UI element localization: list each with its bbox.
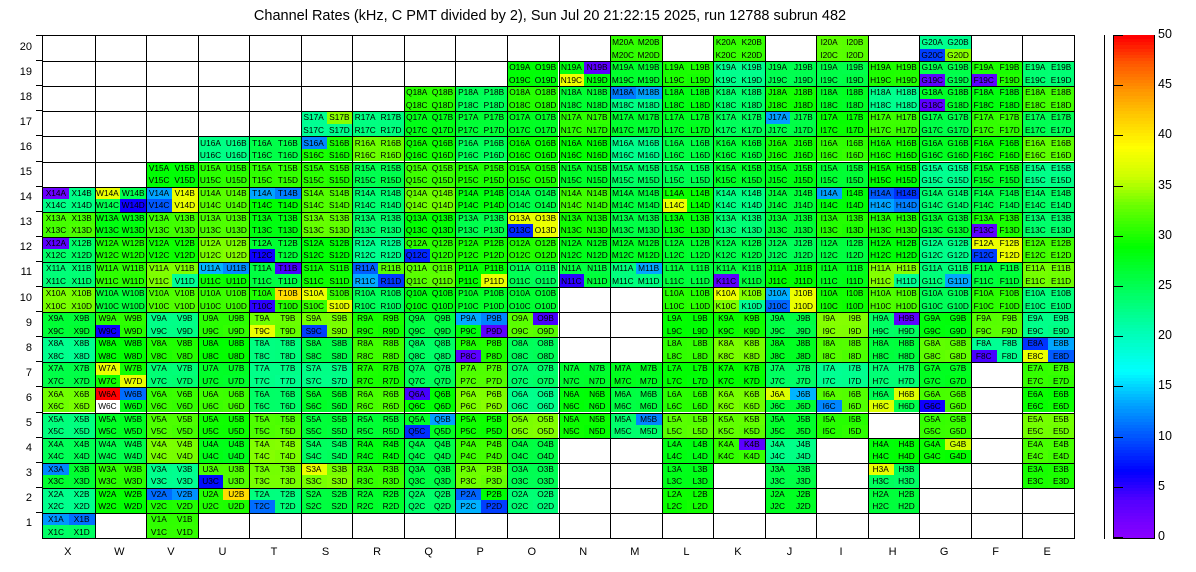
heatmap-cell[interactable]: W5B xyxy=(120,413,146,426)
heatmap-cell[interactable]: T12D xyxy=(275,249,301,262)
heatmap-cell[interactable]: F10A xyxy=(971,287,997,300)
heatmap-cell[interactable]: R3D xyxy=(378,475,404,488)
heatmap-cell[interactable]: P18B xyxy=(481,86,507,99)
heatmap-cell[interactable]: V12D xyxy=(172,249,198,262)
heatmap-cell[interactable]: X3D xyxy=(69,475,95,488)
heatmap-cell[interactable]: V6C xyxy=(146,400,172,413)
heatmap-cell[interactable]: S13B xyxy=(327,212,353,225)
heatmap-cell[interactable]: L12A xyxy=(662,237,688,250)
heatmap-cell[interactable]: E13C xyxy=(1022,224,1048,237)
heatmap-cell[interactable]: G9A xyxy=(919,312,945,325)
heatmap-cell[interactable]: L2D xyxy=(687,500,713,513)
heatmap-cell[interactable]: U7D xyxy=(223,375,249,388)
heatmap-cell[interactable]: S4D xyxy=(327,450,353,463)
heatmap-cell[interactable]: G9C xyxy=(919,325,945,338)
heatmap-cell[interactable]: U3C xyxy=(198,475,224,488)
heatmap-cell[interactable]: W8A xyxy=(95,337,121,350)
heatmap-cell[interactable]: T15A xyxy=(249,162,275,175)
heatmap-cell[interactable]: X4A xyxy=(43,438,69,451)
heatmap-cell[interactable]: L12C xyxy=(662,249,688,262)
heatmap-cell[interactable]: O15C xyxy=(507,174,533,187)
heatmap-cell[interactable]: L4A xyxy=(662,438,688,451)
heatmap-cell[interactable]: S14D xyxy=(327,199,353,212)
heatmap-cell[interactable]: Q18C xyxy=(404,99,430,112)
heatmap-cell[interactable]: R3B xyxy=(378,463,404,476)
heatmap-cell[interactable]: V14C xyxy=(146,199,172,212)
heatmap-cell[interactable]: M20C xyxy=(610,49,636,62)
heatmap-cell[interactable]: S3B xyxy=(327,463,353,476)
heatmap-cell[interactable]: J3D xyxy=(790,475,816,488)
heatmap-cell[interactable]: O17A xyxy=(507,111,533,124)
heatmap-cell[interactable]: V9B xyxy=(172,312,198,325)
heatmap-cell[interactable]: Q12D xyxy=(430,249,456,262)
heatmap-cell[interactable]: H13A xyxy=(868,212,894,225)
heatmap-cell[interactable]: O5B xyxy=(533,413,559,426)
heatmap-cell[interactable]: L16C xyxy=(662,149,688,162)
heatmap-cell[interactable]: U12D xyxy=(223,249,249,262)
heatmap-cell[interactable]: P18A xyxy=(455,86,481,99)
heatmap-cell[interactable]: R15D xyxy=(378,174,404,187)
heatmap-cell[interactable]: G6D xyxy=(945,400,971,413)
heatmap-cell[interactable]: H16B xyxy=(894,136,920,149)
heatmap-cell[interactable]: R15B xyxy=(378,162,404,175)
heatmap-cell[interactable]: F19D xyxy=(997,74,1023,87)
heatmap-cell[interactable]: I15D xyxy=(842,174,868,187)
heatmap-cell[interactable]: V12B xyxy=(172,237,198,250)
heatmap-cell[interactable]: P11A xyxy=(455,262,481,275)
heatmap-cell[interactable]: O12B xyxy=(533,237,559,250)
heatmap-cell[interactable]: F16D xyxy=(997,149,1023,162)
heatmap-cell[interactable]: T13D xyxy=(275,224,301,237)
heatmap-cell[interactable]: I11A xyxy=(816,262,842,275)
heatmap-cell[interactable]: N16B xyxy=(584,136,610,149)
heatmap-cell[interactable]: S16D xyxy=(327,149,353,162)
heatmap-cell[interactable]: I14C xyxy=(816,199,842,212)
heatmap-cell[interactable]: N11B xyxy=(584,262,610,275)
heatmap-cell[interactable]: J12B xyxy=(790,237,816,250)
heatmap-cell[interactable]: G8B xyxy=(945,337,971,350)
heatmap-cell[interactable]: Q11A xyxy=(404,262,430,275)
heatmap-cell[interactable]: H3A xyxy=(868,463,894,476)
heatmap-cell[interactable]: O3D xyxy=(533,475,559,488)
heatmap-cell[interactable]: X1B xyxy=(69,513,95,526)
heatmap-cell[interactable]: G12C xyxy=(919,249,945,262)
heatmap-cell[interactable]: L15D xyxy=(687,174,713,187)
heatmap-cell[interactable]: E12C xyxy=(1022,249,1048,262)
heatmap-cell[interactable]: X8B xyxy=(69,337,95,350)
heatmap-cell[interactable]: H12C xyxy=(868,249,894,262)
heatmap-cell[interactable]: P8A xyxy=(455,337,481,350)
heatmap-cell[interactable]: L16A xyxy=(662,136,688,149)
heatmap-cell[interactable]: E9C xyxy=(1022,325,1048,338)
heatmap-cell[interactable]: G15B xyxy=(945,162,971,175)
heatmap-cell[interactable]: F18C xyxy=(971,99,997,112)
heatmap-cell[interactable]: E15B xyxy=(1048,162,1074,175)
heatmap-cell[interactable]: T4A xyxy=(249,438,275,451)
heatmap-cell[interactable]: R13A xyxy=(352,212,378,225)
heatmap-cell[interactable]: T2A xyxy=(249,488,275,501)
heatmap-cell[interactable]: Q14C xyxy=(404,199,430,212)
heatmap-cell[interactable]: T6C xyxy=(249,400,275,413)
heatmap-cell[interactable]: M6C xyxy=(610,400,636,413)
heatmap-cell[interactable]: M14B xyxy=(636,187,662,200)
heatmap-cell[interactable]: N5B xyxy=(584,413,610,426)
heatmap-cell[interactable]: Q8B xyxy=(430,337,456,350)
heatmap-cell[interactable]: E14B xyxy=(1048,187,1074,200)
heatmap-cell[interactable]: I11C xyxy=(816,274,842,287)
heatmap-cell[interactable]: M20A xyxy=(610,36,636,49)
heatmap-cell[interactable]: O3A xyxy=(507,463,533,476)
heatmap-cell[interactable]: H12B xyxy=(894,237,920,250)
heatmap-cell[interactable]: X1D xyxy=(69,525,95,538)
heatmap-cell[interactable]: F8B xyxy=(997,337,1023,350)
heatmap-cell[interactable]: X12D xyxy=(69,249,95,262)
heatmap-cell[interactable]: E7D xyxy=(1048,375,1074,388)
heatmap-cell[interactable]: F9B xyxy=(997,312,1023,325)
heatmap-cell[interactable]: T16C xyxy=(249,149,275,162)
heatmap-cell[interactable]: V14B xyxy=(172,187,198,200)
heatmap-cell[interactable]: N14D xyxy=(584,199,610,212)
heatmap-cell[interactable]: S4B xyxy=(327,438,353,451)
heatmap-cell[interactable]: L6D xyxy=(687,400,713,413)
heatmap-cell[interactable]: X12A xyxy=(43,237,69,250)
heatmap-cell[interactable]: H15B xyxy=(894,162,920,175)
heatmap-cell[interactable]: P9B xyxy=(481,312,507,325)
heatmap-cell[interactable]: O10B xyxy=(533,287,559,300)
heatmap-cell[interactable]: L9D xyxy=(687,325,713,338)
heatmap-cell[interactable]: H9A xyxy=(868,312,894,325)
heatmap-cell[interactable]: M17D xyxy=(636,124,662,137)
heatmap-cell[interactable]: I14B xyxy=(842,187,868,200)
heatmap-cell[interactable]: V9D xyxy=(172,325,198,338)
heatmap-cell[interactable]: E3A xyxy=(1022,463,1048,476)
heatmap-cell[interactable]: M12A xyxy=(610,237,636,250)
heatmap-cell[interactable]: W7C xyxy=(95,375,121,388)
heatmap-cell[interactable]: P10C xyxy=(455,300,481,313)
heatmap-cell[interactable]: V10B xyxy=(172,287,198,300)
heatmap-cell[interactable]: U10A xyxy=(198,287,224,300)
heatmap-cell[interactable]: H14A xyxy=(868,187,894,200)
heatmap-cell[interactable]: S8A xyxy=(301,337,327,350)
heatmap-cell[interactable]: S8B xyxy=(327,337,353,350)
heatmap-cell[interactable]: W14D xyxy=(120,199,146,212)
heatmap-cell[interactable]: P18C xyxy=(455,99,481,112)
heatmap-cell[interactable]: F19B xyxy=(997,61,1023,74)
heatmap-cell[interactable]: L13C xyxy=(662,224,688,237)
heatmap-cell[interactable]: U8C xyxy=(198,350,224,363)
heatmap-cell[interactable]: S9D xyxy=(327,325,353,338)
heatmap-cell[interactable]: K15D xyxy=(739,174,765,187)
heatmap-cell[interactable]: L18B xyxy=(687,86,713,99)
heatmap-cell[interactable]: N14A xyxy=(559,187,585,200)
heatmap-cell[interactable]: L10C xyxy=(662,300,688,313)
heatmap-cell[interactable]: J14D xyxy=(790,199,816,212)
heatmap-cell[interactable]: J18D xyxy=(790,99,816,112)
heatmap-cell[interactable]: S8C xyxy=(301,350,327,363)
heatmap-cell[interactable]: V11A xyxy=(146,262,172,275)
heatmap-cell[interactable]: X11B xyxy=(69,262,95,275)
heatmap-cell[interactable]: U6C xyxy=(198,400,224,413)
heatmap-cell[interactable]: W9D xyxy=(120,325,146,338)
heatmap-cell[interactable]: O16D xyxy=(533,149,559,162)
heatmap-cell[interactable]: K12B xyxy=(739,237,765,250)
heatmap-cell[interactable]: U9C xyxy=(198,325,224,338)
heatmap-cell[interactable]: R6A xyxy=(352,387,378,400)
heatmap-cell[interactable]: O8D xyxy=(533,350,559,363)
heatmap-cell[interactable]: O12C xyxy=(507,249,533,262)
heatmap-cell[interactable]: P17B xyxy=(481,111,507,124)
heatmap-cell[interactable]: M16B xyxy=(636,136,662,149)
heatmap-cell[interactable]: T2B xyxy=(275,488,301,501)
heatmap-cell[interactable]: E7A xyxy=(1022,362,1048,375)
heatmap-cell[interactable]: X14A xyxy=(43,187,69,200)
heatmap-cell[interactable]: X5A xyxy=(43,413,69,426)
heatmap-cell[interactable]: I9D xyxy=(842,325,868,338)
heatmap-cell[interactable]: I7D xyxy=(842,375,868,388)
heatmap-cell[interactable]: P16B xyxy=(481,136,507,149)
heatmap-cell[interactable]: F18B xyxy=(997,86,1023,99)
heatmap-cell[interactable]: K7C xyxy=(713,375,739,388)
heatmap-cell[interactable]: X1A xyxy=(43,513,69,526)
heatmap-cell[interactable]: X11C xyxy=(43,274,69,287)
heatmap-cell[interactable]: L5B xyxy=(687,413,713,426)
heatmap-cell[interactable]: Q15C xyxy=(404,174,430,187)
heatmap-cell[interactable]: Q18B xyxy=(430,86,456,99)
heatmap-cell[interactable]: J10D xyxy=(790,300,816,313)
heatmap-cell[interactable]: V1C xyxy=(146,525,172,538)
heatmap-cell[interactable]: S10D xyxy=(327,300,353,313)
heatmap-cell[interactable]: S3A xyxy=(301,463,327,476)
heatmap-cell[interactable]: G15D xyxy=(945,174,971,187)
heatmap-cell[interactable]: H16D xyxy=(894,149,920,162)
heatmap-cell[interactable]: E9D xyxy=(1048,325,1074,338)
heatmap-cell[interactable]: Q15B xyxy=(430,162,456,175)
heatmap-cell[interactable]: K6A xyxy=(713,387,739,400)
heatmap-cell[interactable]: Q3D xyxy=(430,475,456,488)
heatmap-cell[interactable]: I9B xyxy=(842,312,868,325)
heatmap-cell[interactable]: G20B xyxy=(945,36,971,49)
heatmap-cell[interactable]: P9C xyxy=(455,325,481,338)
heatmap-cell[interactable]: U3B xyxy=(223,463,249,476)
heatmap-cell[interactable]: K16B xyxy=(739,136,765,149)
heatmap-cell[interactable]: L2C xyxy=(662,500,688,513)
heatmap-cell[interactable]: P15B xyxy=(481,162,507,175)
heatmap-cell[interactable]: V6B xyxy=(172,387,198,400)
heatmap-cell[interactable]: L4C xyxy=(662,450,688,463)
heatmap-cell[interactable]: R4C xyxy=(352,450,378,463)
heatmap-cell[interactable]: O12D xyxy=(533,249,559,262)
heatmap-cell[interactable]: T6B xyxy=(275,387,301,400)
heatmap-cell[interactable]: I5C xyxy=(816,425,842,438)
heatmap-cell[interactable]: L8D xyxy=(687,350,713,363)
heatmap-cell[interactable]: S14B xyxy=(327,187,353,200)
heatmap-cell[interactable]: R17C xyxy=(352,124,378,137)
heatmap-cell[interactable]: H15A xyxy=(868,162,894,175)
heatmap-cell[interactable]: E5B xyxy=(1048,413,1074,426)
heatmap-cell[interactable]: K15A xyxy=(713,162,739,175)
heatmap-cell[interactable]: E11C xyxy=(1022,274,1048,287)
heatmap-cell[interactable]: P14C xyxy=(455,199,481,212)
heatmap-cell[interactable]: I18B xyxy=(842,86,868,99)
heatmap-cell[interactable]: H19A xyxy=(868,61,894,74)
heatmap-cell[interactable]: U13A xyxy=(198,212,224,225)
heatmap-cell[interactable]: L6A xyxy=(662,387,688,400)
heatmap-cell[interactable]: G13C xyxy=(919,224,945,237)
heatmap-cell[interactable]: W8D xyxy=(120,350,146,363)
heatmap-cell[interactable]: R15C xyxy=(352,174,378,187)
heatmap-cell[interactable]: W10D xyxy=(120,300,146,313)
heatmap-cell[interactable]: E18C xyxy=(1022,99,1048,112)
heatmap-cell[interactable]: H4C xyxy=(868,450,894,463)
heatmap-cell[interactable]: K18B xyxy=(739,86,765,99)
heatmap-cell[interactable]: T16B xyxy=(275,136,301,149)
heatmap-cell[interactable]: V15B xyxy=(172,162,198,175)
heatmap-cell[interactable]: V13C xyxy=(146,224,172,237)
heatmap-cell[interactable]: U8D xyxy=(223,350,249,363)
heatmap-cell[interactable]: W5D xyxy=(120,425,146,438)
heatmap-cell[interactable]: Q14B xyxy=(430,187,456,200)
heatmap-cell[interactable]: P14A xyxy=(455,187,481,200)
heatmap-cell[interactable]: O8C xyxy=(507,350,533,363)
heatmap-cell[interactable]: P7A xyxy=(455,362,481,375)
heatmap-cell[interactable]: G12B xyxy=(945,237,971,250)
heatmap-cell[interactable]: F18D xyxy=(997,99,1023,112)
heatmap-cell[interactable]: Q10A xyxy=(404,287,430,300)
heatmap-cell[interactable]: U7C xyxy=(198,375,224,388)
heatmap-cell[interactable]: F19A xyxy=(971,61,997,74)
heatmap-cell[interactable]: X9A xyxy=(43,312,69,325)
heatmap-cell[interactable]: T14D xyxy=(275,199,301,212)
heatmap-cell[interactable]: P18D xyxy=(481,99,507,112)
heatmap-cell[interactable]: F8A xyxy=(971,337,997,350)
heatmap-cell[interactable]: F17B xyxy=(997,111,1023,124)
heatmap-cell[interactable]: L5D xyxy=(687,425,713,438)
heatmap-cell[interactable]: U7A xyxy=(198,362,224,375)
heatmap-cell[interactable]: W10C xyxy=(95,300,121,313)
heatmap-cell[interactable]: T11A xyxy=(249,262,275,275)
heatmap-cell[interactable]: W12D xyxy=(120,249,146,262)
heatmap-cell[interactable]: J15A xyxy=(765,162,791,175)
heatmap-cell[interactable]: R2D xyxy=(378,500,404,513)
heatmap-cell[interactable]: T10A xyxy=(249,287,275,300)
heatmap-cell[interactable]: J3A xyxy=(765,463,791,476)
heatmap-plot[interactable]: X1AX1BX1CX1DX2AX2BX2CX2DX3AX3BX3CX3DX4AX… xyxy=(42,35,1075,539)
heatmap-cell[interactable]: J13A xyxy=(765,212,791,225)
heatmap-cell[interactable]: G13A xyxy=(919,212,945,225)
heatmap-cell[interactable]: T11C xyxy=(249,274,275,287)
heatmap-cell[interactable]: U13B xyxy=(223,212,249,225)
heatmap-cell[interactable]: Q16C xyxy=(404,149,430,162)
heatmap-cell[interactable]: H17A xyxy=(868,111,894,124)
heatmap-cell[interactable]: K12C xyxy=(713,249,739,262)
heatmap-cell[interactable]: P12C xyxy=(455,249,481,262)
heatmap-cell[interactable]: H6D xyxy=(894,400,920,413)
heatmap-cell[interactable]: T3D xyxy=(275,475,301,488)
heatmap-cell[interactable]: R4A xyxy=(352,438,378,451)
heatmap-cell[interactable]: S17B xyxy=(327,111,353,124)
heatmap-cell[interactable]: X4D xyxy=(69,450,95,463)
heatmap-cell[interactable]: W2C xyxy=(95,500,121,513)
heatmap-cell[interactable]: O3C xyxy=(507,475,533,488)
heatmap-cell[interactable]: T3B xyxy=(275,463,301,476)
heatmap-cell[interactable]: G16D xyxy=(945,149,971,162)
heatmap-cell[interactable]: W10A xyxy=(95,287,121,300)
heatmap-cell[interactable]: U14C xyxy=(198,199,224,212)
heatmap-cell[interactable]: G9D xyxy=(945,325,971,338)
heatmap-cell[interactable]: W12A xyxy=(95,237,121,250)
heatmap-cell[interactable]: P5B xyxy=(481,413,507,426)
heatmap-cell[interactable]: W3C xyxy=(95,475,121,488)
heatmap-cell[interactable]: L8A xyxy=(662,337,688,350)
heatmap-cell[interactable]: S11D xyxy=(327,274,353,287)
heatmap-cell[interactable]: M7C xyxy=(610,375,636,388)
heatmap-cell[interactable]: I8D xyxy=(842,350,868,363)
heatmap-cell[interactable]: L17D xyxy=(687,124,713,137)
heatmap-cell[interactable]: E11D xyxy=(1048,274,1074,287)
heatmap-cell[interactable]: J11C xyxy=(765,274,791,287)
heatmap-cell[interactable]: O5D xyxy=(533,425,559,438)
heatmap-cell[interactable]: W14A xyxy=(95,187,121,200)
heatmap-cell[interactable]: L13D xyxy=(687,224,713,237)
heatmap-cell[interactable]: H11C xyxy=(868,274,894,287)
heatmap-cell[interactable]: R7A xyxy=(352,362,378,375)
heatmap-cell[interactable]: L16D xyxy=(687,149,713,162)
heatmap-cell[interactable]: I16B xyxy=(842,136,868,149)
heatmap-cell[interactable]: U4B xyxy=(223,438,249,451)
heatmap-cell[interactable]: H15D xyxy=(894,174,920,187)
heatmap-cell[interactable]: M6D xyxy=(636,400,662,413)
heatmap-cell[interactable]: T8B xyxy=(275,337,301,350)
heatmap-cell[interactable]: J19A xyxy=(765,61,791,74)
heatmap-cell[interactable]: J9D xyxy=(790,325,816,338)
heatmap-cell[interactable]: E7C xyxy=(1022,375,1048,388)
heatmap-cell[interactable]: E3C xyxy=(1022,475,1048,488)
heatmap-cell[interactable]: V7C xyxy=(146,375,172,388)
heatmap-cell[interactable]: K5B xyxy=(739,413,765,426)
heatmap-cell[interactable]: Q9C xyxy=(404,325,430,338)
heatmap-cell[interactable]: S11A xyxy=(301,262,327,275)
heatmap-cell[interactable]: J8B xyxy=(790,337,816,350)
heatmap-cell[interactable]: N11C xyxy=(559,274,585,287)
heatmap-cell[interactable]: V11C xyxy=(146,274,172,287)
heatmap-cell[interactable]: M18A xyxy=(610,86,636,99)
heatmap-cell[interactable]: T9D xyxy=(275,325,301,338)
heatmap-cell[interactable]: T15B xyxy=(275,162,301,175)
heatmap-cell[interactable]: L9A xyxy=(662,312,688,325)
heatmap-cell[interactable]: N17C xyxy=(559,124,585,137)
heatmap-cell[interactable]: R11D xyxy=(378,274,404,287)
heatmap-cell[interactable]: K4B xyxy=(739,438,765,451)
heatmap-cell[interactable]: O7D xyxy=(533,375,559,388)
heatmap-cell[interactable]: X13A xyxy=(43,212,69,225)
heatmap-cell[interactable]: T13A xyxy=(249,212,275,225)
heatmap-cell[interactable]: E16D xyxy=(1048,149,1074,162)
heatmap-cell[interactable]: Q5C xyxy=(404,425,430,438)
heatmap-cell[interactable]: P12A xyxy=(455,237,481,250)
heatmap-cell[interactable]: J10C xyxy=(765,300,791,313)
heatmap-cell[interactable]: H11A xyxy=(868,262,894,275)
heatmap-cell[interactable]: P13B xyxy=(481,212,507,225)
heatmap-cell[interactable]: V7B xyxy=(172,362,198,375)
heatmap-cell[interactable]: F10C xyxy=(971,300,997,313)
heatmap-cell[interactable]: K10C xyxy=(713,300,739,313)
heatmap-cell[interactable]: S2A xyxy=(301,488,327,501)
heatmap-cell[interactable]: T15C xyxy=(249,174,275,187)
heatmap-cell[interactable]: W7A xyxy=(95,362,121,375)
heatmap-cell[interactable]: I6C xyxy=(816,400,842,413)
heatmap-cell[interactable]: L13B xyxy=(687,212,713,225)
heatmap-cell[interactable]: H13D xyxy=(894,224,920,237)
